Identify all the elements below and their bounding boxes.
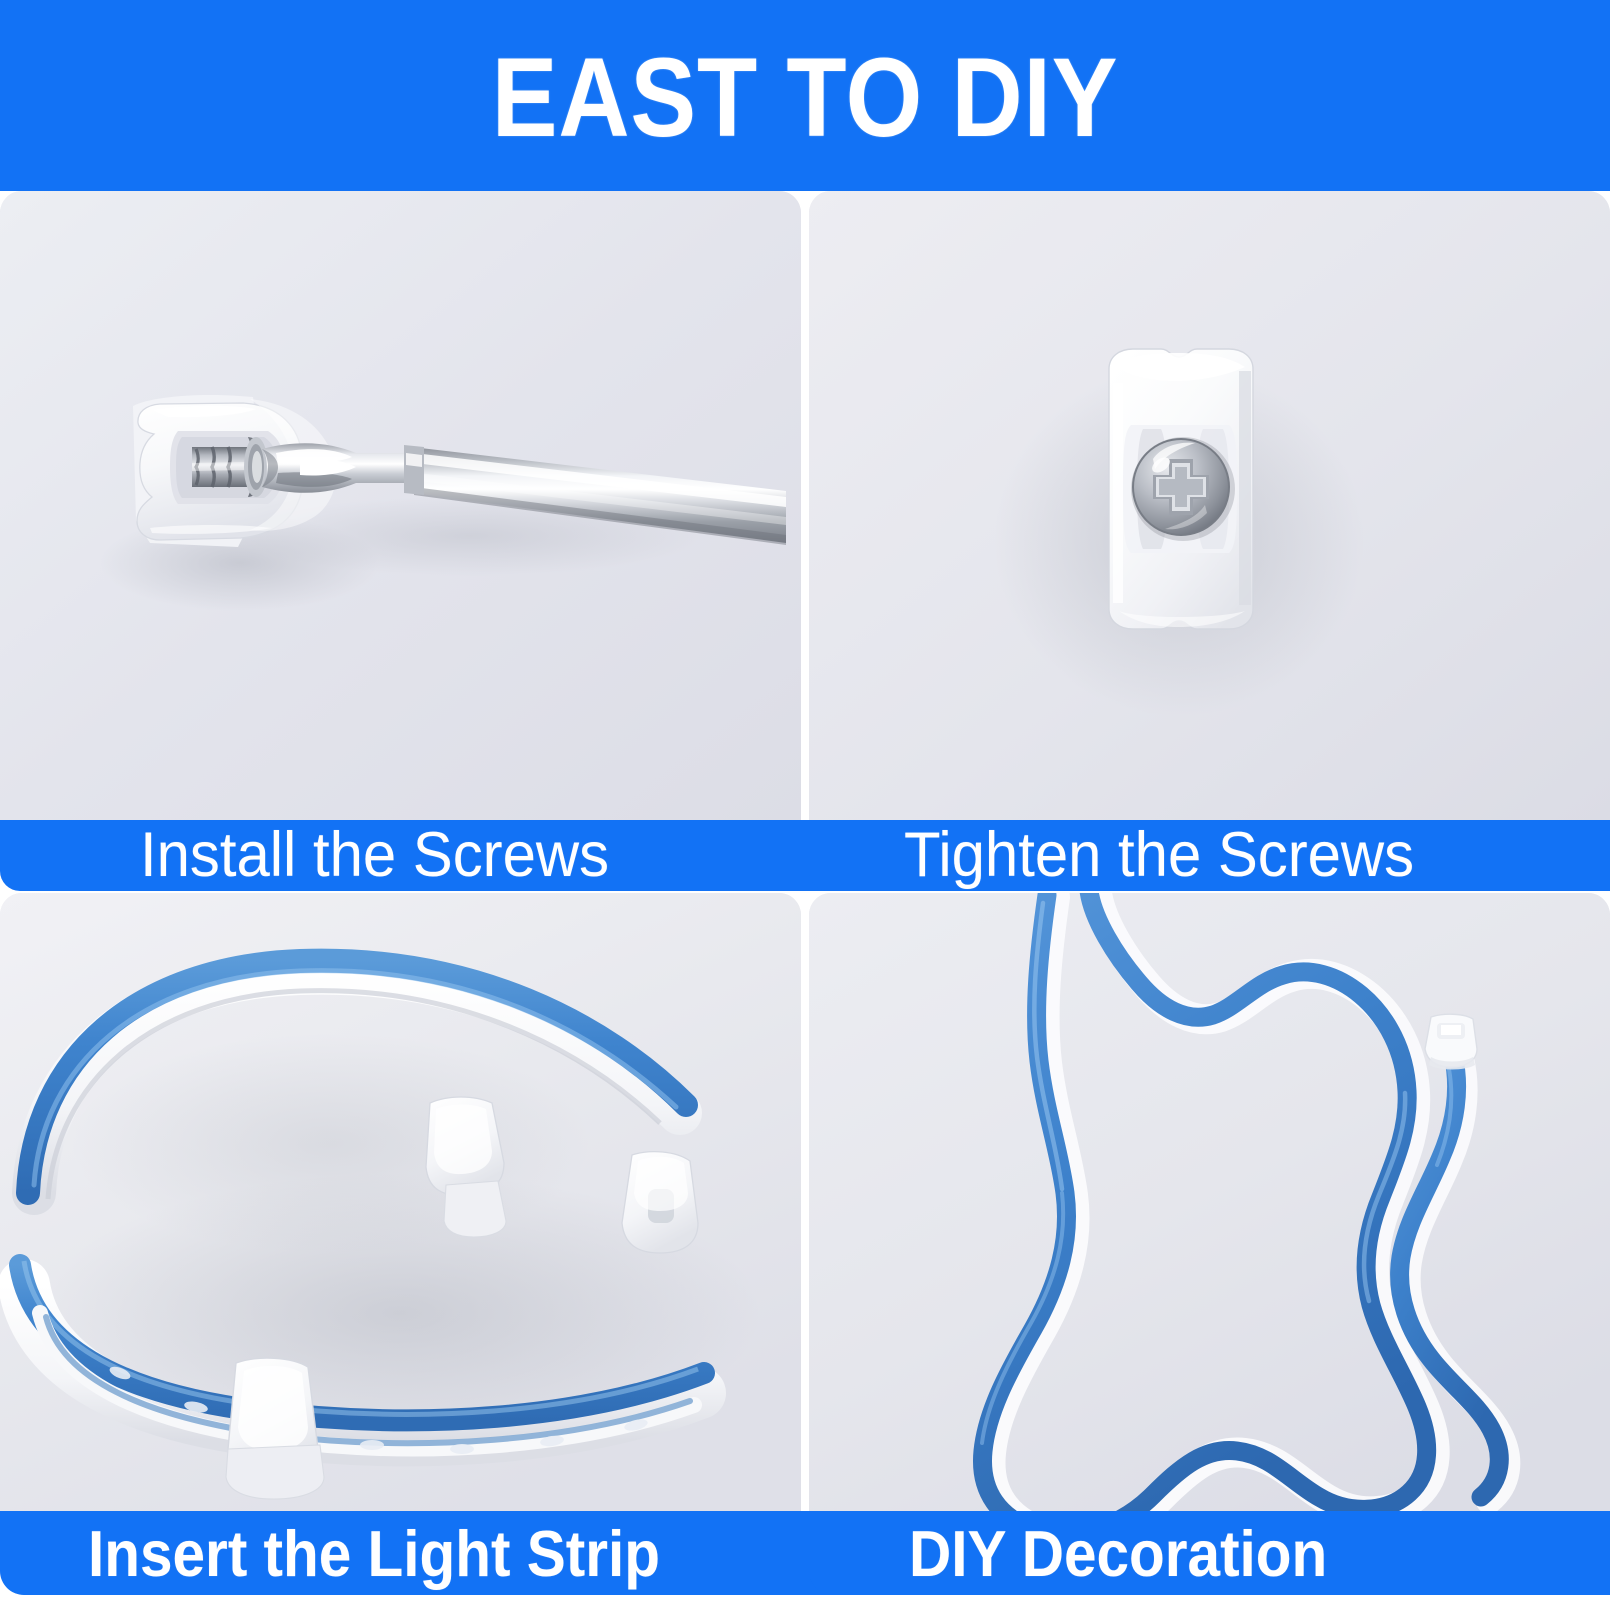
caption-label: Insert the Light Strip <box>88 1521 660 1586</box>
page-title: EAST TO DIY <box>492 42 1119 154</box>
screw-threads <box>192 447 248 487</box>
photo-install-the-screws <box>0 191 801 820</box>
phillips-screw-head <box>1131 437 1235 541</box>
caption-label: Tighten the Screws <box>904 824 1414 887</box>
panel-install-the-screws: Install the Screws <box>0 191 801 891</box>
caption-bar-insert-the-light-strip: Insert the Light Strip <box>0 1511 889 1595</box>
photo-tighten-the-screws <box>809 191 1610 820</box>
illustration-screwdriver-into-clip <box>0 191 801 820</box>
caption-bar-diy-decoration: DIY Decoration <box>809 1511 1610 1595</box>
panel-diy-decoration: DIY Decoration <box>809 893 1610 1595</box>
header-banner: EAST TO DIY <box>0 0 1610 191</box>
illustration-cat-shape-strip <box>809 893 1610 1511</box>
caption-label: Install the Screws <box>140 824 609 887</box>
white-end-connector <box>1425 1014 1477 1069</box>
photo-insert-the-light-strip <box>0 893 801 1511</box>
illustration-strip-in-clips <box>0 893 801 1511</box>
caption-bar-install-the-screws: Install the Screws <box>0 820 941 891</box>
mounting-clip-right <box>622 1152 698 1253</box>
panel-tighten-the-screws: Tighten the Screws <box>809 191 1610 891</box>
panel-insert-the-light-strip: Insert the Light Strip <box>0 893 801 1595</box>
product-infographic: EAST TO DIY <box>0 0 1610 1610</box>
caption-label: DIY Decoration <box>909 1521 1327 1586</box>
illustration-clip-with-tight-screw <box>809 191 1610 820</box>
photo-diy-decoration <box>809 893 1610 1511</box>
caption-bar-tighten-the-screws: Tighten the Screws <box>809 820 1610 891</box>
mounting-clip-lower <box>226 1358 324 1499</box>
